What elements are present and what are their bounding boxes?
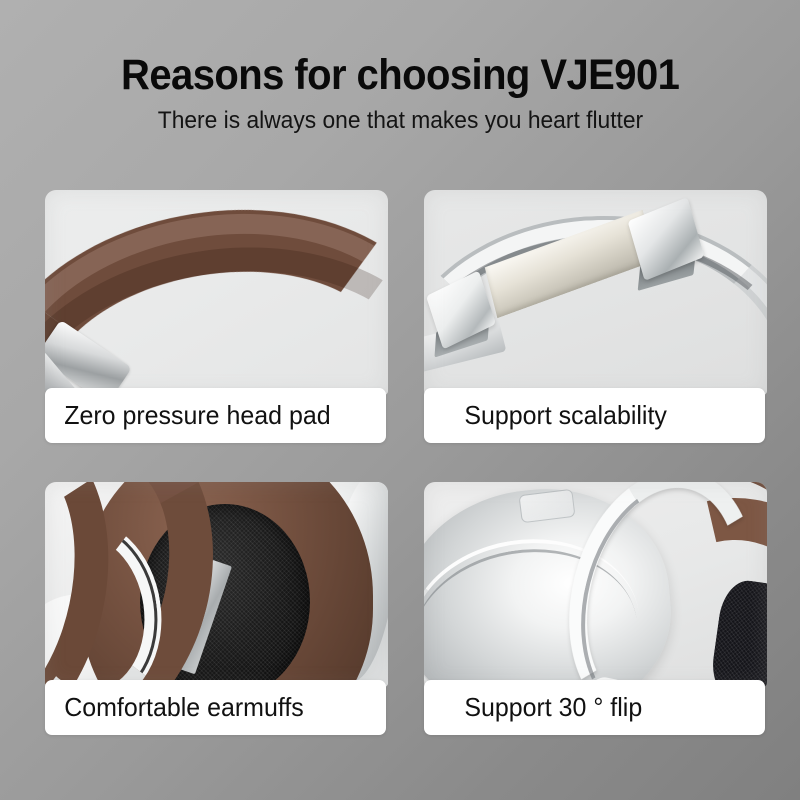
header-block: Reasons for choosing VJE901 There is alw…: [0, 0, 800, 175]
feature-image-slider-extension: [424, 190, 767, 395]
feature-card-support-30-flip[interactable]: Support 30 ° flip: [424, 482, 767, 735]
page-subtitle: There is always one that makes you heart…: [157, 107, 642, 135]
feature-caption-bar: Support 30 ° flip: [424, 680, 765, 735]
feature-card-zero-pressure-head-pad[interactable]: Zero pressure head pad: [45, 190, 388, 443]
page-title: Reasons for choosing VJE901: [121, 52, 679, 98]
feature-caption-label: Comfortable earmuffs: [45, 692, 304, 723]
feature-caption-label: Support 30 ° flip: [424, 692, 642, 723]
feature-image-flip-earcup: [424, 482, 767, 687]
feature-caption-label: Zero pressure head pad: [45, 400, 331, 431]
feature-caption-bar: Support scalability: [424, 388, 765, 443]
feature-caption-bar: Comfortable earmuffs: [45, 680, 386, 735]
feature-grid: Zero pressure head pad Support scalabili…: [45, 190, 765, 735]
feature-card-comfortable-earmuffs[interactable]: Comfortable earmuffs: [45, 482, 388, 735]
feature-image-earmuff: [45, 482, 388, 687]
feature-caption-label: Support scalability: [424, 400, 667, 431]
feature-card-support-scalability[interactable]: Support scalability: [424, 190, 767, 443]
feature-caption-bar: Zero pressure head pad: [45, 388, 386, 443]
feature-image-headband-arch: [45, 190, 388, 395]
